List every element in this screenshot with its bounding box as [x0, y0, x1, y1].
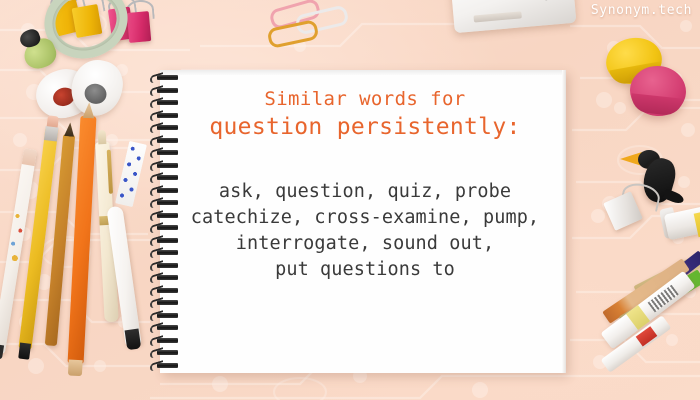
- spiral-ring-bar: [157, 363, 178, 368]
- spiral-ring-bar: [157, 88, 178, 93]
- spiral-ring-bar: [157, 188, 178, 193]
- spiral-ring: [150, 299, 180, 306]
- yellow-pencil-ferrule: [44, 126, 59, 141]
- synonym-line: catechize, cross-examine, pump,: [176, 205, 554, 231]
- spiral-ring-bar: [157, 338, 178, 343]
- spiral-ring-bar: [157, 163, 178, 168]
- camera-lens: [483, 0, 546, 2]
- spiral-ring-bar: [157, 200, 178, 205]
- spiral-ring-bar: [157, 275, 178, 280]
- synonym-line: interrogate, sound out,: [176, 231, 554, 257]
- spiral-ring-bar: [157, 125, 178, 130]
- spiral-ring-bar: [157, 100, 178, 105]
- spiral-ring: [150, 312, 180, 319]
- spiral-ring: [150, 362, 180, 369]
- spiral-ring-bar: [157, 350, 178, 355]
- camera-grip-strip: [473, 11, 521, 22]
- spiral-ring-bar: [157, 138, 178, 143]
- spiral-ring-bar: [157, 225, 178, 230]
- notepad-top-edge: [160, 70, 566, 75]
- site-watermark: Synonym.tech: [591, 3, 692, 18]
- spiral-ring: [150, 324, 180, 331]
- white-pencil-cap: [22, 148, 37, 166]
- notepad-text-block: Similar words for question persistently:…: [176, 86, 554, 283]
- spiral-ring-bar: [157, 300, 178, 305]
- notepad-right-edge: [562, 70, 566, 373]
- spiral-ring-bar: [157, 325, 178, 330]
- spiral-ring: [150, 337, 180, 344]
- cream-pen-plunger: [98, 130, 107, 144]
- screenshot-root: Similar words for question persistently:…: [0, 0, 700, 400]
- page-title-line2: question persistently:: [176, 112, 554, 142]
- spiral-ring: [150, 349, 180, 356]
- spiral-ring-bar: [157, 113, 178, 118]
- spiral-ring-bar: [157, 75, 178, 80]
- spiral-ring-bar: [157, 263, 178, 268]
- yellow-pencil-tip: [18, 343, 31, 360]
- white-marker-pen-tip: [125, 329, 142, 351]
- synonym-list: ask, question, quiz, probecatechize, cro…: [176, 179, 554, 283]
- spiral-ring-bar: [157, 175, 178, 180]
- pink-binder-clip: [127, 11, 152, 43]
- orange-pencil-end: [68, 359, 83, 376]
- spiral-ring: [150, 74, 180, 81]
- spiral-ring-bar: [157, 250, 178, 255]
- spiral-ring-bar: [157, 150, 178, 155]
- synonym-line: put questions to: [176, 257, 554, 283]
- spiral-ring-bar: [157, 288, 178, 293]
- synonym-line: ask, question, quiz, probe: [176, 179, 554, 205]
- spiral-ring-bar: [157, 313, 178, 318]
- spiral-ring-bar: [157, 213, 178, 218]
- spiral-ring-bar: [157, 238, 178, 243]
- spiral-ring: [150, 287, 180, 294]
- eraser-gray-dot: [82, 81, 108, 106]
- page-title-line1: Similar words for: [176, 86, 554, 112]
